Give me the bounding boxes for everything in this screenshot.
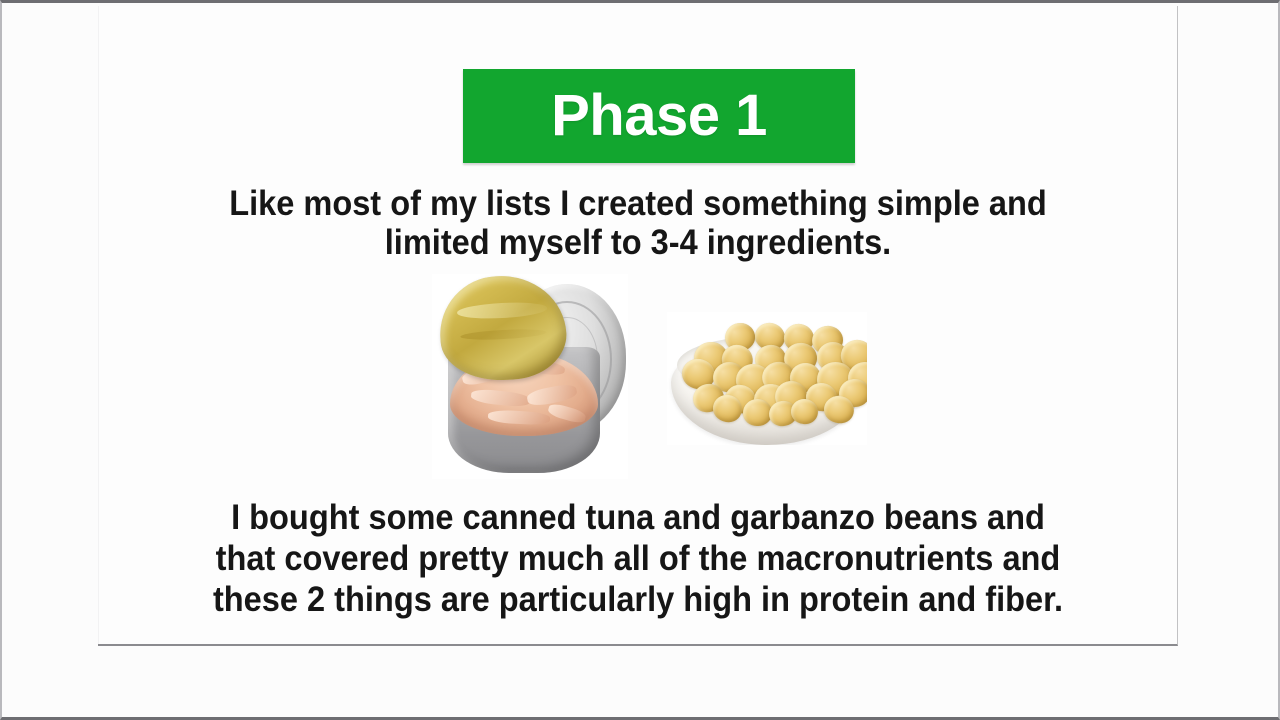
chickpea [774,379,809,412]
chickpea [743,398,772,425]
chickpea [719,341,758,378]
chickpea-cluster [667,312,867,445]
phase-title-text: Phase 1 [551,87,767,145]
chickpea [752,382,789,417]
conclusion-line-2: that covered pretty much all of the macr… [184,539,1092,580]
chickpea [735,362,773,397]
intro-line-2: limited myself to 3-4 ingredients. [193,223,1082,262]
chickpea [838,337,867,373]
slide-panel: Phase 1 Like most of my lists I created … [98,6,1178,646]
phase-title-banner: Phase 1 [463,69,855,163]
tuna-flake [511,356,566,378]
tuna-silver-lid [508,284,626,434]
tuna-can-body [448,347,600,473]
video-player-frame: Phase 1 Like most of my lists I created … [0,0,1280,720]
tuna-flesh [450,352,598,436]
bowl-rim [677,336,857,394]
chickpea [782,341,819,376]
chickpea [723,321,757,353]
chickpea [817,361,854,395]
chickpea [847,361,867,393]
chickpea [752,320,788,354]
chickpea [790,398,820,426]
chickpea [752,342,788,376]
intro-line-1: Like most of my lists I created somethin… [193,184,1082,223]
intro-paragraph: Like most of my lists I created somethin… [193,184,1082,262]
chickpea [804,381,839,414]
chickpea [758,358,797,395]
tuna-flake [470,388,530,408]
chickpea [789,362,823,394]
chickpea [837,377,867,408]
chickpea [721,380,759,417]
chickpea [782,322,817,355]
chickpea [690,380,727,415]
tuna-gold-peeled-lid [437,273,568,383]
conclusion-paragraph: I bought some canned tuna and garbanzo b… [184,498,1092,621]
tuna-flake [547,402,587,425]
tuna-flake [526,383,578,408]
chickpea [814,339,850,373]
conclusion-line-3: these 2 things are particularly high in … [184,580,1092,621]
tuna-flake [488,409,551,426]
garbanzo-beans-photo [667,312,867,445]
chickpea [678,355,719,394]
conclusion-line-1: I bought some canned tuna and garbanzo b… [184,498,1092,539]
tuna-flake [461,362,511,388]
bowl [671,341,863,445]
chickpea [767,399,798,428]
chickpea [711,359,748,394]
chickpea [809,323,844,356]
chickpea [821,393,856,426]
canned-tuna-photo [432,274,628,479]
chickpea [709,391,746,426]
chickpea [694,342,728,374]
